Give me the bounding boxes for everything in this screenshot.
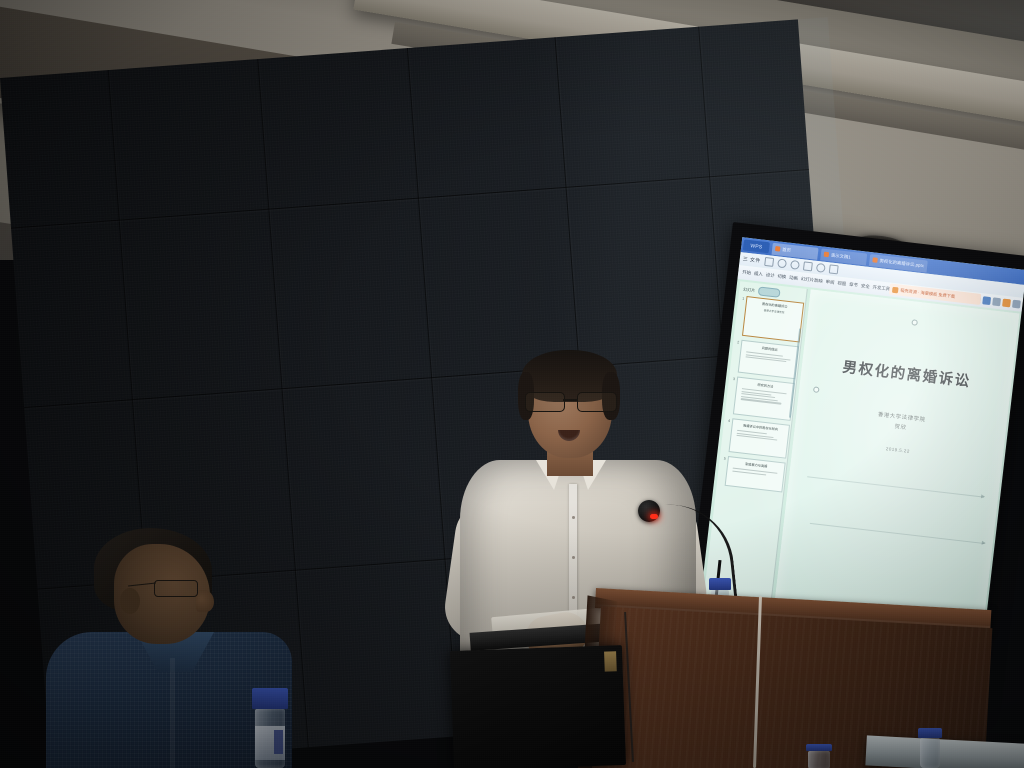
back-arrow-icon[interactable] bbox=[829, 264, 839, 274]
lens-right bbox=[577, 392, 617, 412]
minimize-icon[interactable] bbox=[992, 297, 1001, 306]
water-bottle-table-b bbox=[918, 728, 942, 768]
thumbnail-item[interactable]: 4 离婚诉讼中的男权化倾向 bbox=[722, 417, 790, 458]
moderator-ear bbox=[120, 588, 140, 614]
eyeglasses-icon bbox=[154, 580, 204, 596]
wps-tab-label: 演示文稿1 bbox=[831, 252, 852, 260]
slide-guide-line bbox=[810, 523, 985, 544]
print-icon[interactable] bbox=[803, 261, 813, 271]
thumbnail-slide-1[interactable]: 男权化的离婚诉讼 香港大学法律学院 bbox=[742, 296, 804, 342]
ribbon-tab-section[interactable]: 章节 bbox=[849, 282, 858, 289]
ribbon-tab-slideshow[interactable]: 幻灯片放映 bbox=[801, 276, 824, 284]
thumbnail-number: 4 bbox=[725, 417, 731, 423]
tab-icon bbox=[824, 252, 830, 258]
ribbon-tab-security[interactable]: 安全 bbox=[860, 283, 869, 290]
lecture-hall-photo: WPS 首页 演示文稿1 男权化的离婚诉讼.pptx 三 文件 bbox=[0, 0, 1024, 768]
slide-panel-label: 幻灯片 bbox=[743, 286, 756, 293]
wps-logo: WPS bbox=[743, 239, 770, 253]
lens-left bbox=[525, 392, 565, 412]
tab-icon bbox=[872, 257, 878, 263]
thumbnail-item[interactable]: 1 男权化的离婚诉讼 香港大学法律学院 bbox=[735, 295, 804, 342]
redo-icon[interactable] bbox=[790, 260, 800, 270]
water-bottle-left bbox=[252, 688, 288, 768]
wps-tab-label: 男权化的离婚诉讼.pptx bbox=[879, 258, 924, 269]
bottle-cap bbox=[806, 744, 832, 751]
confidence-monitor bbox=[450, 645, 626, 768]
placeholder-handle[interactable] bbox=[813, 386, 820, 393]
ribbon-tab-devtools[interactable]: 开发工具 bbox=[872, 284, 890, 292]
slide-title: 男权化的离婚诉讼 bbox=[801, 351, 1012, 396]
microphone-status-led bbox=[650, 514, 658, 519]
thumbnail-slide-4[interactable]: 离婚诉讼中的男权化倾向 bbox=[729, 418, 791, 458]
slide-guide-line bbox=[807, 476, 984, 497]
bottle-cap bbox=[252, 688, 288, 709]
monitor-badge bbox=[604, 651, 617, 671]
file-menu-button[interactable]: 三 文件 bbox=[742, 255, 761, 264]
restore-icon[interactable] bbox=[1002, 299, 1011, 308]
thumbnail-number: 3 bbox=[730, 376, 736, 382]
thumbnail-item[interactable]: 2 问题的提出 bbox=[731, 339, 799, 379]
thumbnail-slide-3[interactable]: 研究的方法 bbox=[733, 377, 795, 421]
save-icon[interactable] bbox=[764, 257, 774, 267]
ribbon-tab-animation[interactable]: 动画 bbox=[789, 275, 798, 282]
glasses-bridge bbox=[563, 399, 577, 401]
side-table bbox=[865, 735, 1024, 768]
moderator-placket bbox=[170, 658, 175, 768]
bottle-body bbox=[808, 751, 830, 768]
placeholder-handle[interactable] bbox=[911, 319, 918, 326]
lens bbox=[154, 580, 198, 597]
cloud-icon[interactable] bbox=[816, 263, 826, 273]
ribbon-tab-transition[interactable]: 切换 bbox=[777, 273, 786, 280]
bottle-cap bbox=[918, 728, 942, 738]
ribbon-tab-view[interactable]: 视图 bbox=[837, 280, 846, 287]
wps-tab-label: 首页 bbox=[782, 246, 791, 253]
eyeglasses-icon bbox=[524, 392, 618, 411]
undo-icon[interactable] bbox=[777, 258, 787, 268]
thumbnail-slide-5[interactable]: 家庭暴力与离婚 bbox=[725, 456, 786, 492]
bottle-label bbox=[255, 726, 286, 760]
bottle-body bbox=[920, 738, 941, 768]
close-icon[interactable] bbox=[1012, 300, 1021, 309]
thumbnail-number: 1 bbox=[739, 295, 745, 301]
tab-icon bbox=[775, 246, 781, 252]
share-icon[interactable] bbox=[982, 296, 991, 305]
thumbnail-number: 2 bbox=[734, 339, 740, 345]
bottle-cap bbox=[709, 578, 731, 590]
water-bottle-table-a bbox=[806, 744, 832, 768]
ribbon-tab-design[interactable]: 设计 bbox=[765, 272, 774, 279]
ribbon-tab-insert[interactable]: 插入 bbox=[754, 271, 763, 278]
ribbon-tab-start[interactable]: 开始 bbox=[742, 269, 751, 276]
thumbnail-item[interactable]: 5 家庭暴力与离婚 bbox=[718, 455, 786, 492]
slide-affiliation: 香港大学法律学院 贺欣 bbox=[796, 401, 1007, 445]
outline-view-toggle[interactable] bbox=[758, 286, 781, 297]
thumbnail-item[interactable]: 3 研究的方法 bbox=[726, 376, 795, 421]
docer-icon bbox=[892, 286, 899, 293]
thumbnail-slide-2[interactable]: 问题的提出 bbox=[738, 340, 799, 379]
ribbon-tab-review[interactable]: 审阅 bbox=[825, 279, 834, 286]
